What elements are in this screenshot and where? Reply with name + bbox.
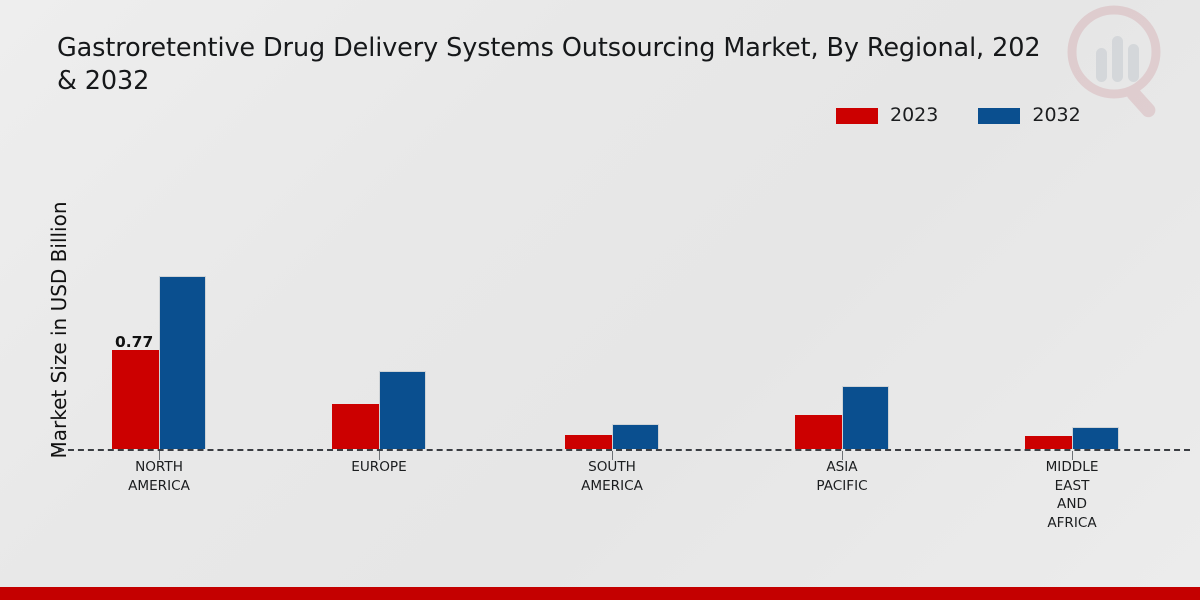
x-label-asia-pacific: ASIA PACIFIC: [762, 458, 922, 495]
x-label-line: ASIA: [762, 458, 922, 477]
bar-europe-2032[interactable]: [379, 371, 426, 449]
plot-area: 0.77 NORTH AMERICA EUROPE SOUTH AMERICA: [0, 0, 1200, 600]
data-label-north-america-2023: 0.77: [115, 333, 153, 351]
x-label-line: SOUTH: [532, 458, 692, 477]
x-axis-baseline: [58, 449, 1190, 451]
x-label-south-america: SOUTH AMERICA: [532, 458, 692, 495]
bar-north-america-2032[interactable]: [159, 276, 206, 449]
bar-middle-east-and-africa-2023[interactable]: [1025, 436, 1072, 449]
bar-group-asia-pacific: [795, 149, 895, 449]
bar-south-america-2023[interactable]: [565, 435, 612, 449]
footer-accent-bar: [0, 587, 1200, 600]
bar-group-europe: [332, 149, 432, 449]
x-label-line: AFRICA: [992, 514, 1152, 533]
bar-europe-2023[interactable]: [332, 404, 379, 449]
bar-group-middle-east-and-africa: [1025, 149, 1125, 449]
x-label-line: EUROPE: [299, 458, 459, 477]
x-label-line: PACIFIC: [762, 477, 922, 496]
x-label-line: MIDDLE: [992, 458, 1152, 477]
x-label-middle-east-and-africa: MIDDLE EAST AND AFRICA: [992, 458, 1152, 532]
x-label-line: EAST: [992, 477, 1152, 496]
x-label-line: AMERICA: [532, 477, 692, 496]
bar-asia-pacific-2032[interactable]: [842, 386, 889, 449]
bar-north-america-2023[interactable]: [112, 350, 159, 449]
bar-asia-pacific-2023[interactable]: [795, 415, 842, 449]
x-label-europe: EUROPE: [299, 458, 459, 477]
x-label-line: AMERICA: [79, 477, 239, 496]
bar-group-south-america: [565, 149, 665, 449]
bar-group-north-america: [112, 149, 212, 449]
x-label-north-america: NORTH AMERICA: [79, 458, 239, 495]
x-label-line: AND: [992, 495, 1152, 514]
x-label-line: NORTH: [79, 458, 239, 477]
chart-canvas: Gastroretentive Drug Delivery Systems Ou…: [0, 0, 1200, 600]
bar-south-america-2032[interactable]: [612, 424, 659, 449]
bar-middle-east-and-africa-2032[interactable]: [1072, 427, 1119, 449]
